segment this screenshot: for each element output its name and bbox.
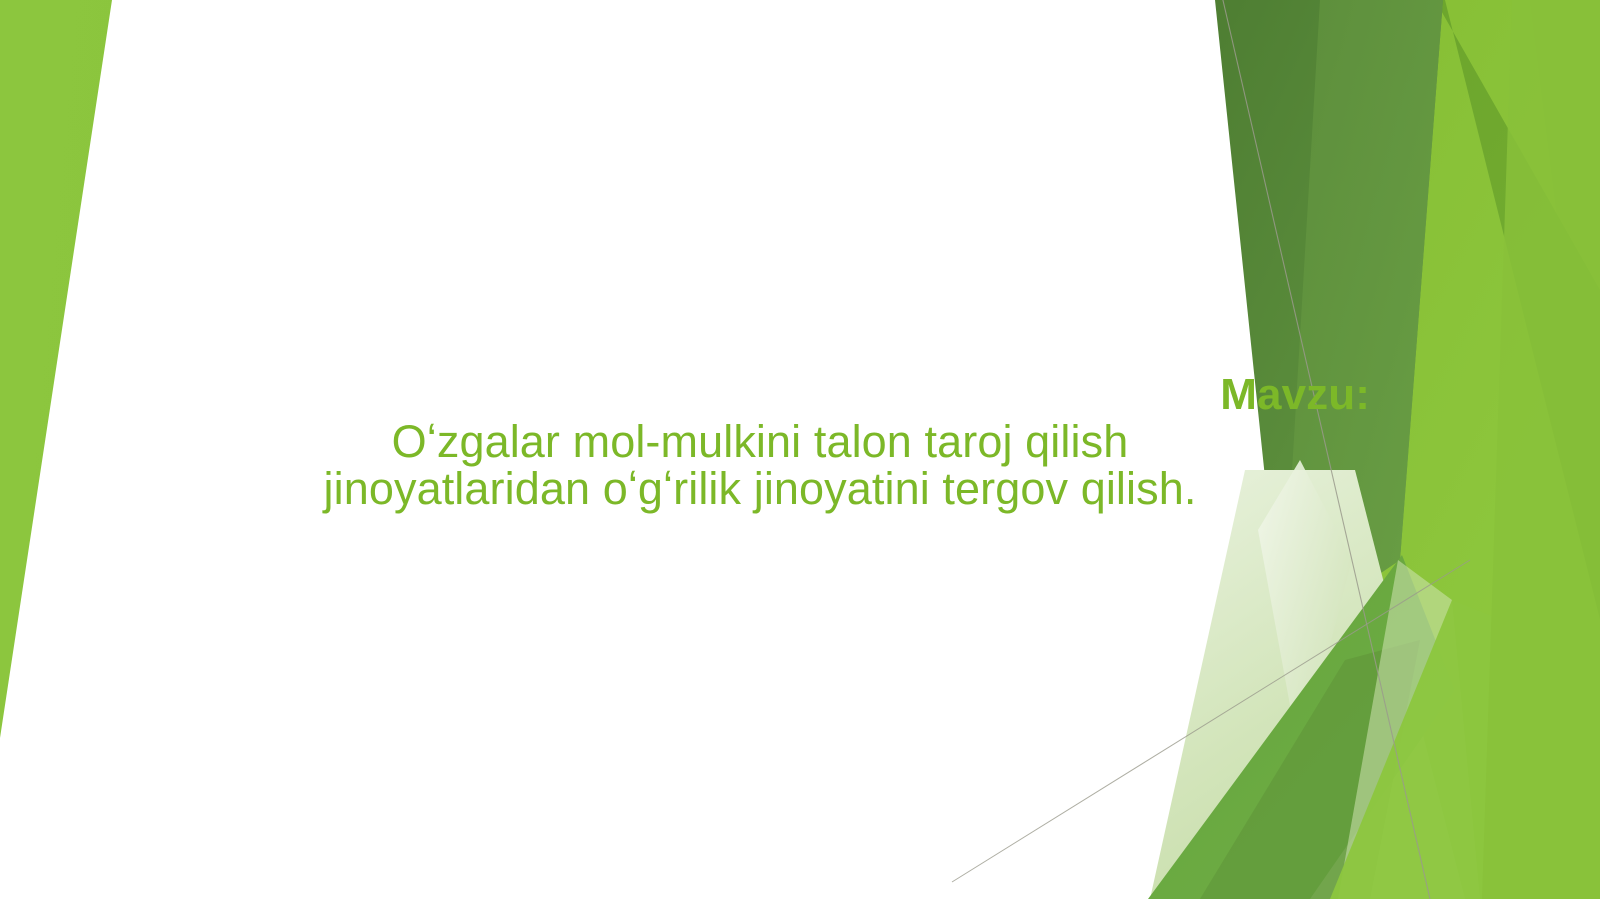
pale-green-fan-shape [1150,470,1465,899]
left-green-wedge-shape [0,0,112,738]
right-edge-light-band-shape [1482,0,1600,899]
presentation-slide: Mavzu: Oʻzgalar mol-mulkini talon taroj … [0,0,1600,899]
right-olive-facet-shape [1282,0,1443,640]
title-line-2: Oʻzgalar mol-mulkini talon taroj qilish [150,418,1370,465]
lower-dark-green-facet-shape [1200,640,1420,899]
lower-green-diagonal-shape [1148,555,1455,899]
title-line-3: jinoyatlaridan oʻgʻrilik jinoyatini terg… [150,465,1370,512]
right-mid-green-band-shape [1330,0,1600,899]
slide-title: Mavzu: Oʻzgalar mol-mulkini talon taroj … [150,372,1370,513]
hairline-diagonal-secondary [952,560,1470,882]
right-dark-olive-wedge-shape [1215,0,1443,640]
bright-green-overlay-shape [1330,600,1600,899]
right-mid-slab-shape [1435,0,1600,620]
upper-pale-sliver-shape [1338,560,1480,899]
title-line-1: Mavzu: [150,372,1370,418]
